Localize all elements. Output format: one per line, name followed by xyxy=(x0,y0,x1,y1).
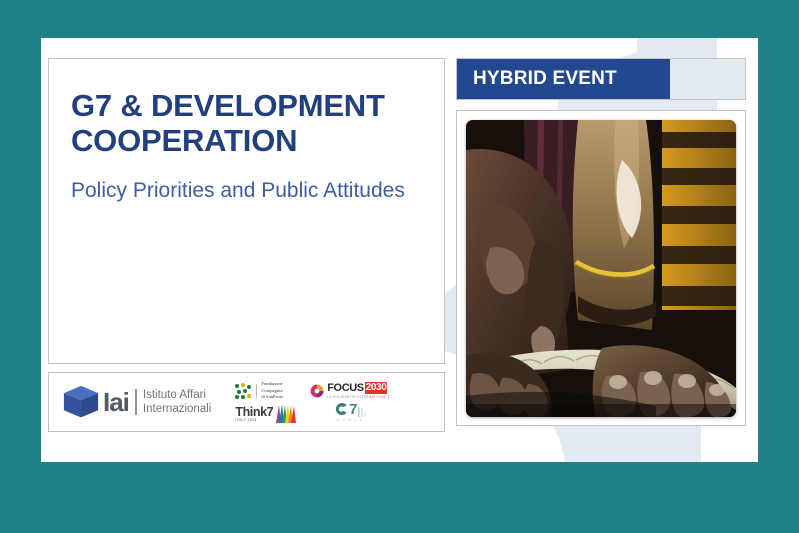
partner-column-right: FOCUS 2030 LA SOLIDARITE INTERNATIONALE xyxy=(310,382,390,422)
logo-panel: Iai Istituto Affari Internazionali xyxy=(48,372,445,432)
compagnia-di-san-paolo-logo: Fondazione Compagnia di SanPaolo xyxy=(235,381,296,401)
photo-frame xyxy=(456,110,746,426)
page-subtitle: Policy Priorities and Public Attitudes xyxy=(71,178,422,204)
think7-wordmark: Think7 xyxy=(235,406,273,419)
page-title: G7 & DEVELOPMENT COOPERATION xyxy=(71,89,422,158)
c7-tagline: C I V I L xyxy=(337,418,364,422)
partner-column-left: Fondazione Compagnia di SanPaolo Think7 … xyxy=(235,381,296,423)
iai-divider xyxy=(135,389,137,415)
focus-year-badge: 2030 xyxy=(365,382,388,394)
focus-wordmark: FOCUS xyxy=(327,383,364,394)
compagnia-line2: Compagnia xyxy=(261,388,282,393)
iai-logo: Iai Istituto Affari Internazionali xyxy=(63,385,211,419)
iai-full-name: Istituto Affari Internazionali xyxy=(143,388,211,417)
think7-fan-icon xyxy=(274,404,296,423)
compagnia-line1: Fondazione xyxy=(261,381,282,386)
compagnia-divider xyxy=(256,384,257,398)
compagnia-line3: di SanPaolo xyxy=(261,394,283,399)
c7-ring-icon xyxy=(334,402,348,416)
title-panel: G7 & DEVELOPMENT COOPERATION Policy Prio… xyxy=(48,58,445,364)
left-column: G7 & DEVELOPMENT COOPERATION Policy Prio… xyxy=(48,58,445,432)
partner-logos: Fondazione Compagnia di SanPaolo Think7 … xyxy=(235,381,390,423)
focus-swirl-icon xyxy=(310,384,324,398)
c7-bars-icon xyxy=(358,404,366,414)
compagnia-dots-icon xyxy=(235,383,252,400)
iai-name-line2: Internazionali xyxy=(143,403,211,415)
c7-mark: 7 xyxy=(334,402,366,417)
compagnia-wordmark: Fondazione Compagnia di SanPaolo xyxy=(261,381,283,401)
c7-logo: 7 C I V I L xyxy=(310,402,390,422)
focus-tagline: LA SOLIDARITE INTERNATIONALE xyxy=(327,395,390,399)
hybrid-event-badge: HYBRID EVENT xyxy=(457,59,670,99)
slide-stage: G7 & DEVELOPMENT COOPERATION Policy Prio… xyxy=(0,0,799,533)
event-bar: HYBRID EVENT xyxy=(456,58,746,100)
iai-wordmark: Iai xyxy=(103,389,129,415)
right-column: HYBRID EVENT xyxy=(456,58,746,426)
iai-name-line1: Istituto Affari xyxy=(143,389,206,401)
think7-logo: Think7 ITALY 2024 xyxy=(235,404,296,423)
hands-on-rope-photo xyxy=(466,120,736,417)
focus2030-logo: FOCUS 2030 LA SOLIDARITE INTERNATIONALE xyxy=(310,382,390,399)
think7-tagline: ITALY 2024 xyxy=(235,419,256,423)
cube-icon xyxy=(63,385,99,419)
c7-seven: 7 xyxy=(349,402,357,417)
slide-sheet: G7 & DEVELOPMENT COOPERATION Policy Prio… xyxy=(41,38,758,462)
